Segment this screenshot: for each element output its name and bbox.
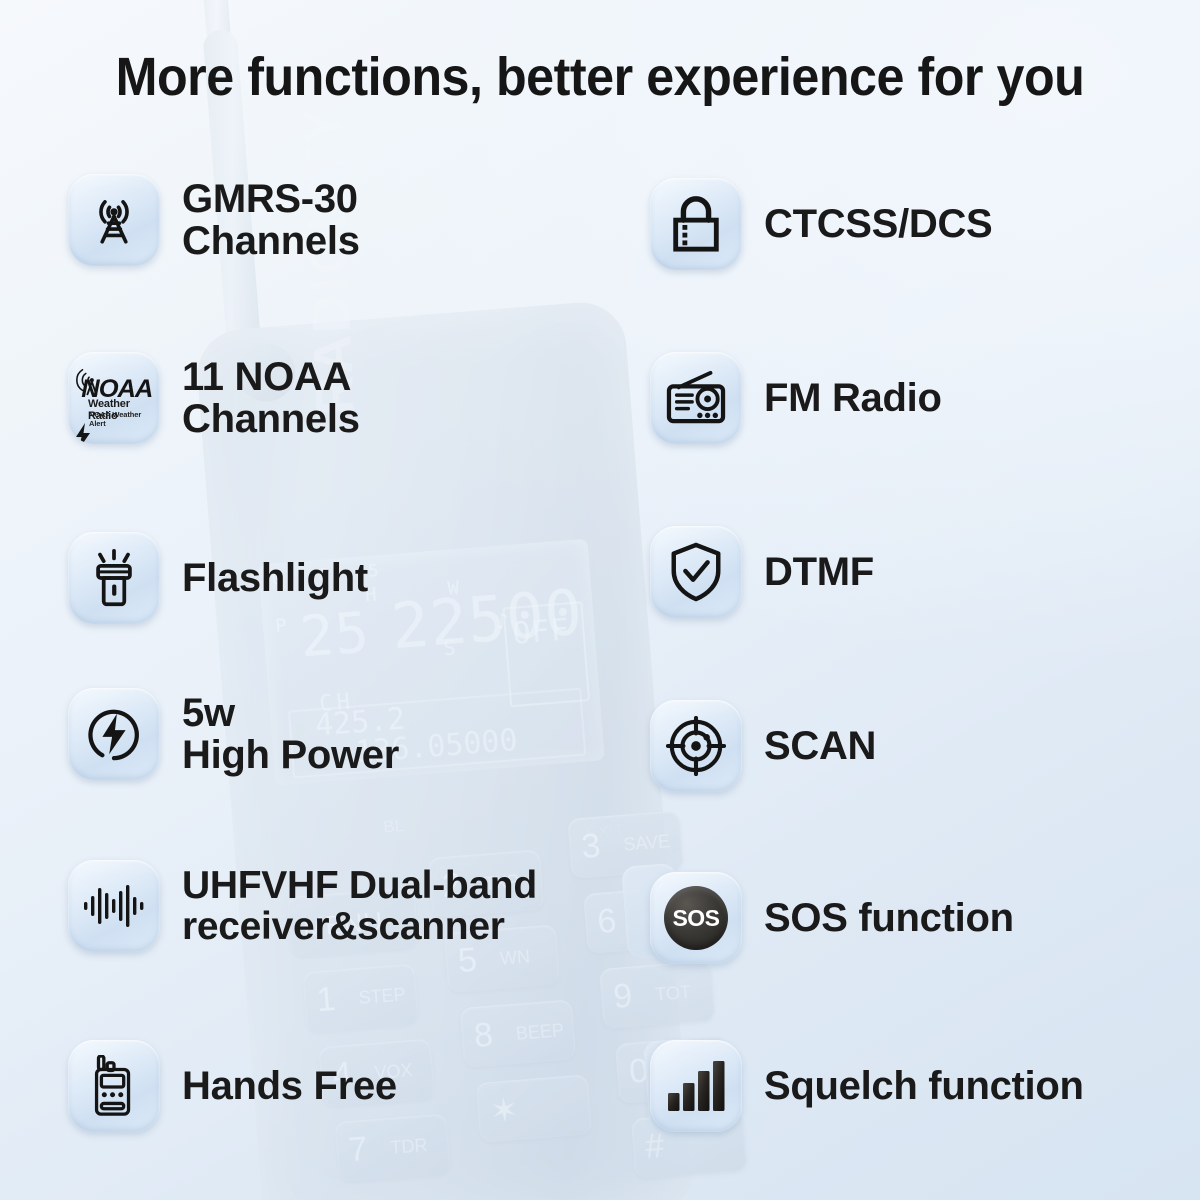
- key-7-sub: TDR: [390, 1135, 429, 1159]
- fm-radio-icon: [650, 352, 742, 444]
- signal-bars-icon: [650, 1040, 742, 1132]
- feature-label: 11 NOAA Channels: [182, 356, 360, 441]
- feature-label: Flashlight: [182, 557, 368, 599]
- lcd-mode-hw: H W: [364, 575, 490, 607]
- feature-noaa-channels: NOAA Weather Radio NOAA Weather Alert 11…: [68, 352, 360, 444]
- crosshair-target-icon: [650, 700, 742, 792]
- flashlight-icon: [68, 532, 160, 624]
- label-exit: EXIT: [586, 821, 625, 844]
- key-3: 3 SAVE: [567, 810, 683, 879]
- key-3-num: 3: [580, 827, 602, 867]
- key-hash-label: #: [644, 1127, 666, 1167]
- shield-check-icon: [650, 526, 742, 618]
- feature-flashlight: Flashlight: [68, 532, 368, 624]
- feature-label: 5w High Power: [182, 692, 399, 777]
- noaa-line-2: NOAA Weather Alert: [89, 410, 153, 428]
- key-8-num: 8: [473, 1016, 495, 1056]
- key-8: 8 BEEP: [460, 999, 576, 1068]
- key-6-num: 6: [596, 902, 618, 942]
- noaa-weather-radio-icon: NOAA Weather Radio NOAA Weather Alert: [68, 352, 160, 444]
- feature-high-power: 5w High Power: [68, 688, 399, 780]
- feature-label: SCAN: [764, 725, 876, 767]
- antenna-tip: [202, 0, 231, 43]
- power-bolt-icon: [68, 688, 160, 780]
- key-1: 1 STEP: [302, 964, 418, 1033]
- feature-sos: SOS SOS function: [650, 872, 1014, 964]
- feature-label: FM Radio: [764, 377, 942, 419]
- feature-label: DTMF: [764, 551, 874, 593]
- walkie-talkie-icon: [68, 1040, 160, 1132]
- feature-label: SOS function: [764, 897, 1014, 939]
- key-3-sub: SAVE: [623, 831, 671, 856]
- key-1-num: 1: [315, 980, 337, 1020]
- padlock-icon: [650, 178, 742, 270]
- feature-label: GMRS-30 Channels: [182, 178, 360, 263]
- key-1-sub: STEP: [358, 984, 407, 1009]
- feature-dual-band: UHFVHF Dual-band receiver&scanner: [68, 860, 537, 952]
- key-7-num: 7: [347, 1130, 369, 1170]
- page-title: More functions, better experience for yo…: [42, 46, 1158, 108]
- lcd-note-icon: ♪: [495, 609, 510, 635]
- lcd-s-marker: S: [443, 635, 457, 660]
- key-0-num: 0: [628, 1052, 650, 1092]
- key-8-sub: BEEP: [515, 1020, 565, 1045]
- feature-dtmf: DTMF: [650, 526, 874, 618]
- feature-label: Hands Free: [182, 1065, 397, 1107]
- lcd-off-label: OFF: [511, 612, 571, 651]
- feature-fm-radio: FM Radio: [650, 352, 942, 444]
- key-star: ✶: [476, 1074, 592, 1143]
- lcd-off-box: [502, 601, 590, 707]
- radio-tower-icon: [68, 174, 160, 266]
- feature-hands-free: Hands Free: [68, 1040, 397, 1132]
- feature-label: Squelch function: [764, 1065, 1084, 1107]
- sos-circle: SOS: [664, 886, 728, 950]
- feature-scan: SCAN: [650, 700, 876, 792]
- feature-squelch: Squelch function: [650, 1040, 1084, 1132]
- key-9-sub: TOT: [655, 982, 692, 1006]
- label-bl: BL: [383, 816, 405, 838]
- key-star-label: ✶: [488, 1090, 520, 1132]
- sos-badge-icon: SOS: [650, 872, 742, 964]
- waveform-icon: [68, 860, 160, 952]
- feature-ctcss-dcs: CTCSS/DCS: [650, 178, 992, 270]
- infographic-page: RADIOLITY 0 2 5 H W P 25 22500 S ♪ CH OF…: [0, 0, 1200, 1200]
- key-9: 9 TOT: [599, 960, 715, 1029]
- sos-label: SOS: [672, 905, 719, 932]
- lcd-freq-big: 22500: [389, 575, 586, 663]
- feature-gmrs-channels: GMRS-30 Channels: [68, 174, 360, 266]
- feature-label: UHFVHF Dual-band receiver&scanner: [182, 865, 537, 948]
- feature-label: CTCSS/DCS: [764, 203, 992, 245]
- key-9-num: 9: [612, 977, 634, 1017]
